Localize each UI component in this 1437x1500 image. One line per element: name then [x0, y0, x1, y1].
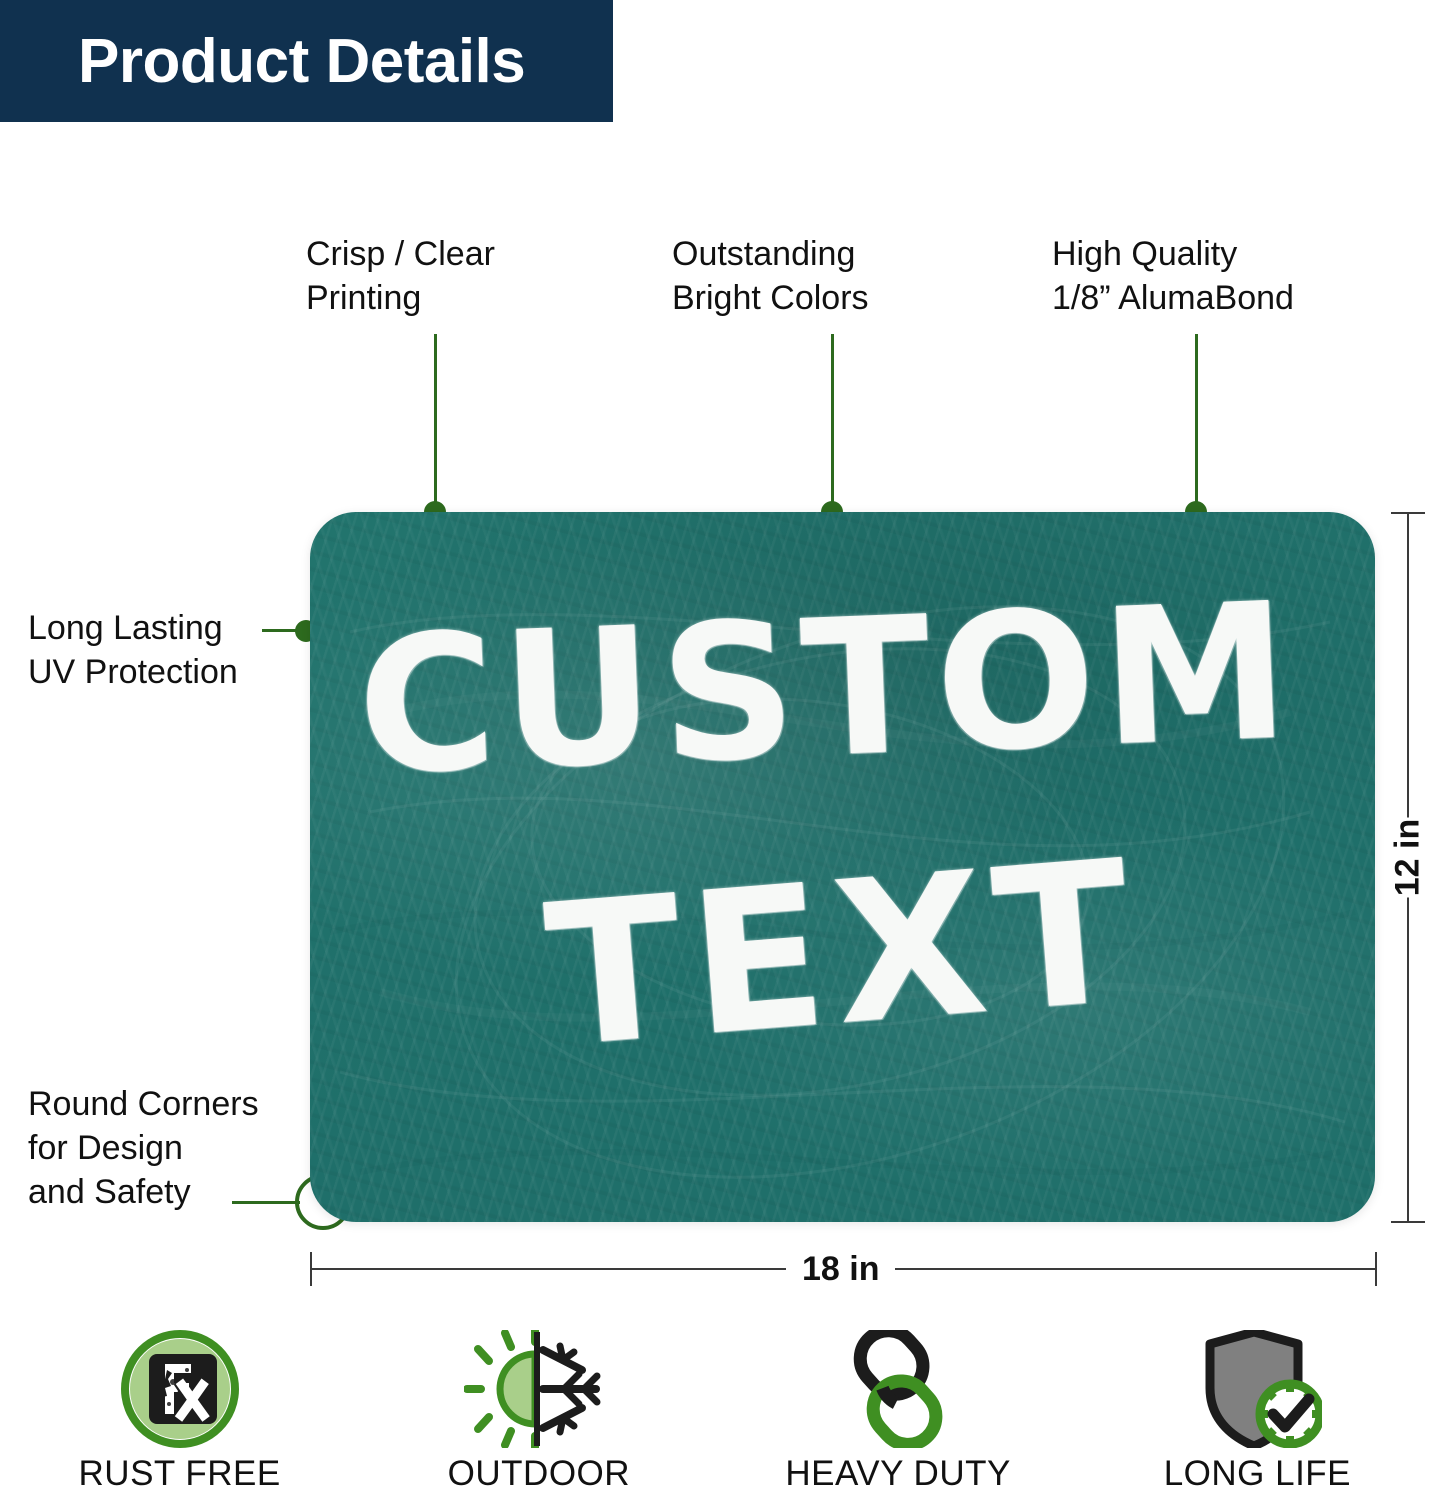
feature-label-rust-free: RUST FREE [79, 1454, 281, 1494]
dim-label-width: 18 in [786, 1250, 895, 1289]
feature-long-life: LONG LIFE [1078, 1330, 1437, 1500]
rust-free-icon [121, 1330, 239, 1448]
callout-high-quality-alumabond: High Quality 1/8” AlumaBond [1052, 232, 1294, 320]
leader-line-round-corners [232, 1201, 300, 1204]
feature-label-outdoor: OUTDOOR [448, 1454, 630, 1494]
callout-outstanding-bright-colors: Outstanding Bright Colors [672, 232, 869, 320]
dim-cap-right [1375, 1252, 1377, 1286]
chain-link-icon [833, 1330, 963, 1448]
leader-line-colors [831, 334, 834, 514]
sun-snowflake-icon [464, 1330, 614, 1448]
sign-text-line-2: TEXT [539, 818, 1147, 1092]
feature-outdoor: OUTDOOR [359, 1330, 718, 1500]
callout-crisp-clear-printing: Crisp / Clear Printing [306, 232, 495, 320]
dim-label-height: 12 in [1389, 818, 1428, 898]
dim-cap-bottom [1391, 1221, 1425, 1223]
feature-rust-free: RUST FREE [0, 1330, 359, 1500]
product-details-infographic: Product Details Crisp / Clear Printing O… [0, 0, 1437, 1500]
chalkboard-sign: CUSTOM TEXT [310, 512, 1375, 1222]
sign-text-line-1: CUSTOM [354, 562, 1299, 817]
callout-long-lasting-uv-protection: Long Lasting UV Protection [28, 606, 238, 694]
callout-round-corners: Round Corners for Design and Safety [28, 1082, 259, 1214]
leader-line-alumabond [1195, 334, 1198, 514]
leader-line-printing [434, 334, 437, 514]
feature-heavy-duty: HEAVY DUTY [719, 1330, 1078, 1500]
chalk-text-layer: CUSTOM TEXT [310, 512, 1375, 1222]
page-title: Product Details [78, 26, 525, 98]
feature-badges-row: RUST FREE [0, 1330, 1437, 1500]
feature-label-heavy-duty: HEAVY DUTY [785, 1454, 1010, 1494]
shield-clock-check-icon [1192, 1330, 1322, 1448]
feature-label-long-life: LONG LIFE [1164, 1454, 1351, 1494]
